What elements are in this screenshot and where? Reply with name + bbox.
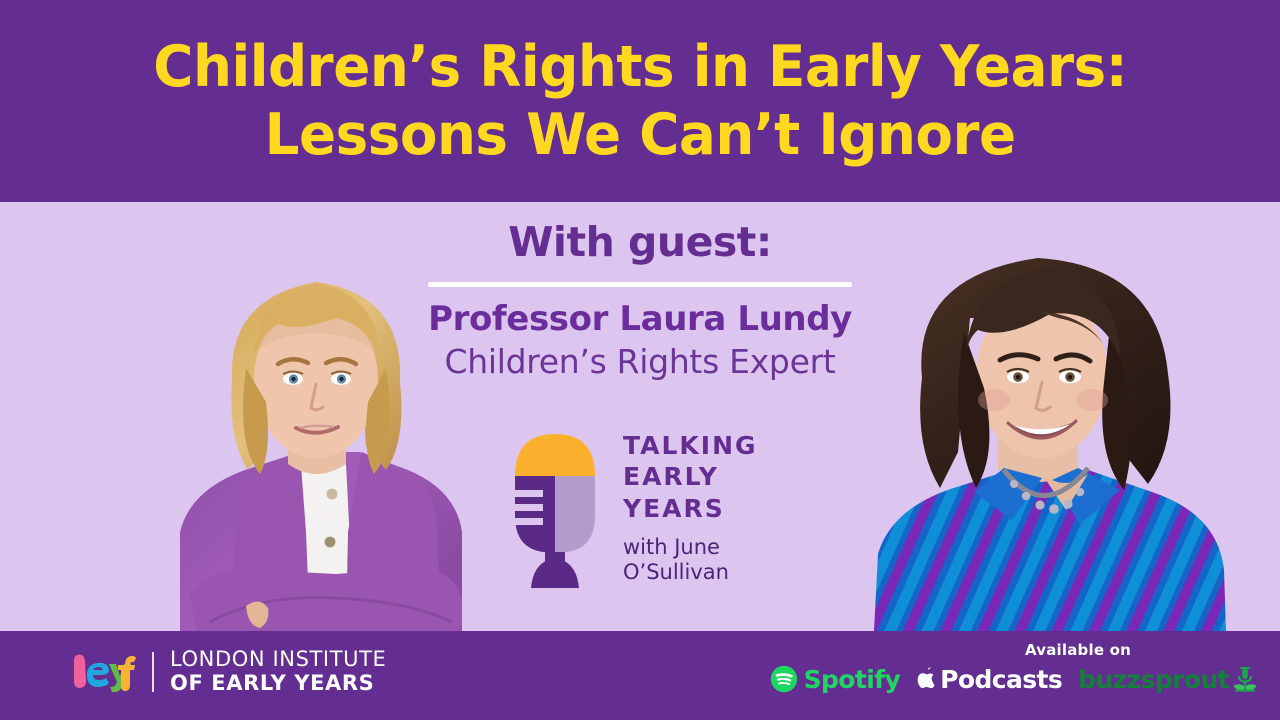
available-on-block: Available on Spotify Podcasts b [898, 641, 1258, 693]
spotify-label: Spotify [804, 667, 901, 692]
logo-divider [152, 652, 154, 692]
divider-rule [428, 282, 852, 287]
apple-podcasts-badge[interactable]: Podcasts [916, 665, 1062, 693]
page-title-line-2: Lessons We Can’t Ignore [264, 101, 1015, 169]
podcast-wordmark: TALKING EARLY YEARS with June O’Sullivan [623, 420, 758, 585]
spotify-badge[interactable]: Spotify [770, 665, 901, 693]
podcast-logo: TALKING EARLY YEARS with June O’Sullivan [505, 420, 795, 605]
main-stage: With guest: Professor Laura Lundy Childr… [0, 202, 1280, 631]
page-title-line-1: Children’s Rights in Early Years: [153, 33, 1127, 101]
buzzsprout-label: buzzsprout [1078, 667, 1229, 692]
org-name-line-1: LONDON INSTITUTE [170, 648, 386, 672]
podcast-word-talking: TALKING [623, 430, 758, 461]
with-guest-label: With guest: [420, 220, 860, 265]
podcast-word-years: YEARS [623, 493, 758, 524]
apple-podcasts-label: Podcasts [940, 667, 1062, 692]
podcast-host-line-1: with June [623, 535, 758, 560]
buzzsprout-badge[interactable]: buzzsprout [1078, 665, 1258, 693]
title-banner: Children’s Rights in Early Years: Lesson… [0, 0, 1280, 202]
org-name: LONDON INSTITUTE OF EARLY YEARS [170, 648, 386, 695]
leyf-logo[interactable]: LONDON INSTITUTE OF EARLY YEARS [70, 648, 386, 695]
podcast-episode-graphic: Children’s Rights in Early Years: Lesson… [0, 0, 1280, 720]
guest-info-block: With guest: Professor Laura Lundy Childr… [420, 220, 860, 382]
podcast-host-line-2: O’Sullivan [623, 560, 758, 585]
microphone-icon [505, 420, 605, 595]
leyf-wordmark-icon [70, 651, 136, 693]
spotify-icon [770, 665, 798, 693]
host-portrait-right [852, 202, 1280, 631]
podcast-word-early: EARLY [623, 461, 758, 492]
buzzsprout-sprout-icon [1232, 665, 1258, 693]
platform-badges: Spotify Podcasts buzzsprout [898, 665, 1258, 693]
guest-name: Professor Laura Lundy [420, 298, 860, 341]
apple-icon [916, 665, 938, 693]
guest-role: Children’s Rights Expert [420, 341, 860, 382]
available-on-label: Available on [898, 641, 1258, 659]
org-name-line-2: OF EARLY YEARS [170, 672, 386, 696]
